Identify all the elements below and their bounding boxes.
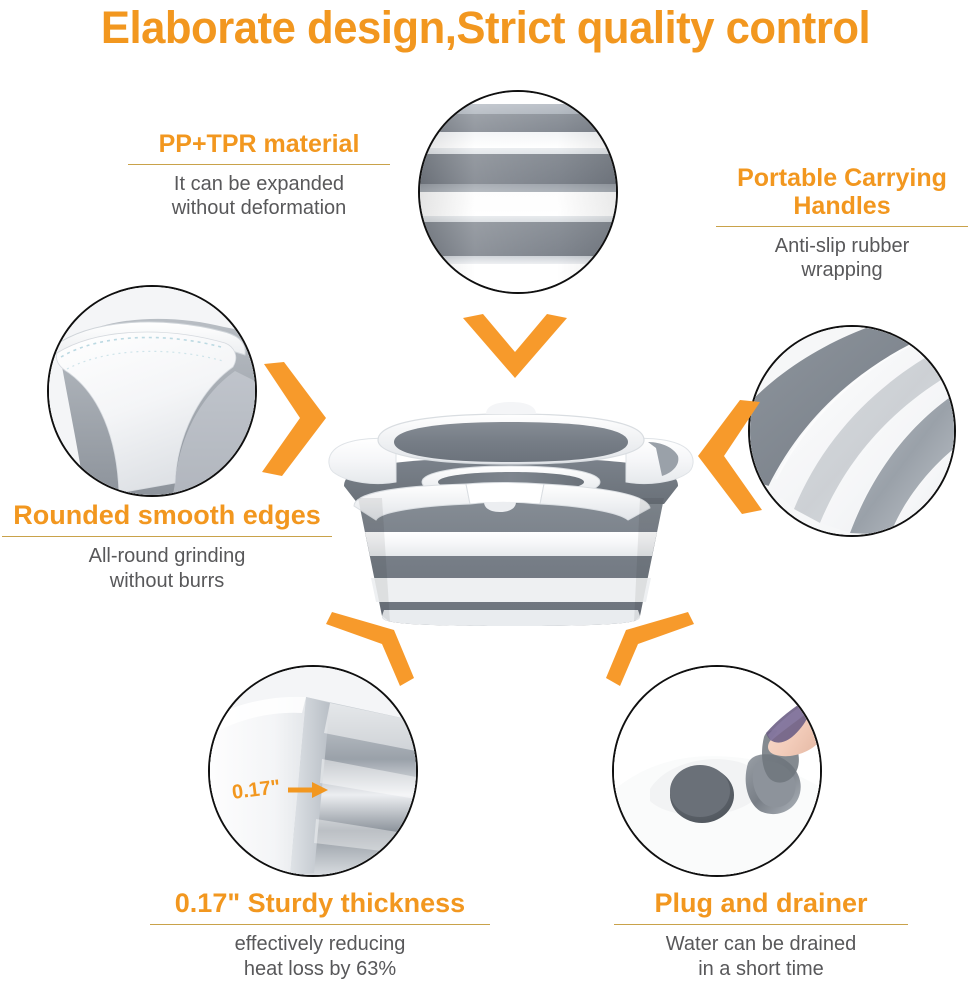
feature-caption-handles: Portable Carrying Handles Anti-slip rubb… (716, 164, 968, 283)
thickness-arrow-icon (288, 779, 330, 801)
feature-subtext-material-line2: without deformation (128, 196, 390, 220)
feature-subtext-handles-line2: wrapping (716, 258, 968, 282)
feature-subtext-thickness-line2: heat loss by 63% (150, 957, 490, 981)
page-title: Elaborate design,Strict quality control (15, 2, 957, 54)
caption-divider (2, 536, 332, 537)
rim-illustration (49, 287, 255, 495)
caption-divider (128, 164, 390, 165)
feature-caption-plug: Plug and drainer Water can be drained in… (614, 888, 908, 981)
feature-subtext-material-line1: It can be expanded (128, 172, 390, 196)
feature-caption-edges: Rounded smooth edges All-round grinding … (2, 500, 332, 593)
feature-heading-material: PP+TPR material (128, 130, 390, 158)
feature-caption-thickness: 0.17" Sturdy thickness effectively reduc… (150, 888, 490, 981)
rounded-rim-closeup (49, 287, 255, 495)
caption-divider (614, 924, 908, 925)
feature-heading-handles-line1: Portable Carrying (716, 164, 968, 192)
feature-heading-thickness: 0.17" Sturdy thickness (150, 888, 490, 918)
feature-subtext-edges-line2: without burrs (2, 569, 332, 593)
caption-divider (150, 924, 490, 925)
feature-subtext-plug-line1: Water can be drained (614, 932, 908, 956)
caption-divider (716, 226, 968, 227)
drain-plug-closeup (614, 667, 820, 875)
feature-subtext-edges-line1: All-round grinding (2, 544, 332, 568)
thickness-illustration (210, 667, 416, 875)
handle-grip-closeup (750, 327, 954, 535)
feature-photo-edges (47, 285, 257, 497)
feature-photo-plug (612, 665, 822, 877)
feature-photo-handles (748, 325, 956, 537)
edge-thickness-closeup: 0.17" (210, 667, 416, 875)
striped-material-closeup (420, 92, 616, 292)
feature-photo-thickness: 0.17" (208, 665, 418, 877)
product-image-collapsible-basket (318, 378, 704, 630)
grip-illustration (750, 327, 954, 535)
feature-subtext-plug-line2: in a short time (614, 957, 908, 981)
chevron-down-icon (461, 312, 569, 380)
feature-heading-edges: Rounded smooth edges (2, 500, 332, 530)
chevron-left-icon (694, 398, 766, 516)
feature-heading-handles-line2: Handles (716, 192, 968, 220)
feature-caption-material: PP+TPR material It can be expanded witho… (128, 130, 390, 221)
feature-subtext-thickness-line1: effectively reducing (150, 932, 490, 956)
plug-illustration (614, 667, 820, 875)
feature-photo-material (418, 90, 618, 294)
feature-subtext-handles-line1: Anti-slip rubber (716, 234, 968, 258)
feature-heading-plug: Plug and drainer (614, 888, 908, 918)
